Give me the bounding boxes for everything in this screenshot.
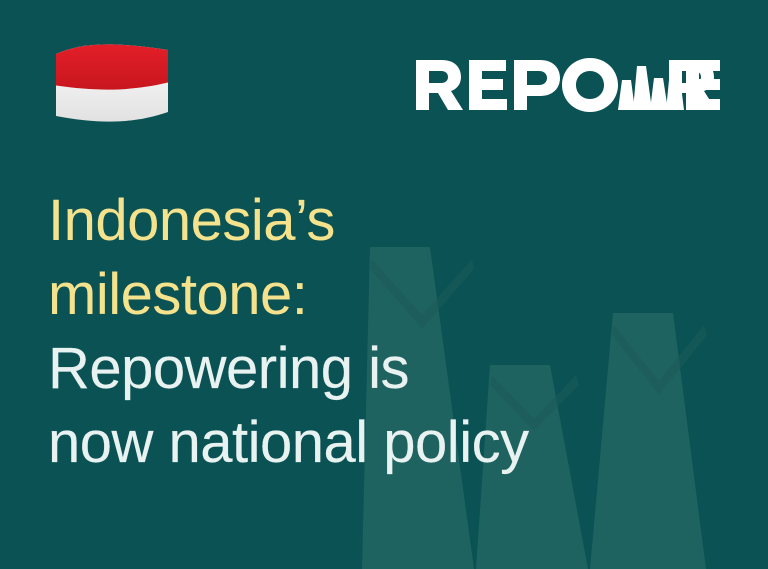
headline-line-4: now national policy xyxy=(48,406,708,480)
indonesia-flag-icon xyxy=(46,40,178,132)
flag-red-band xyxy=(46,40,178,90)
headline-line-2: milestone: xyxy=(48,258,708,332)
social-card: Indonesia’s milestone: Repowering is now… xyxy=(0,0,768,569)
repower-logo-icon[interactable] xyxy=(414,58,720,112)
headline-line-1: Indonesia’s xyxy=(48,184,708,258)
headline-line-3: Repowering is xyxy=(48,332,708,406)
flag-bands xyxy=(46,40,178,132)
headline-block: Indonesia’s milestone: Repowering is now… xyxy=(48,184,708,480)
repower-wordmark xyxy=(416,58,720,112)
